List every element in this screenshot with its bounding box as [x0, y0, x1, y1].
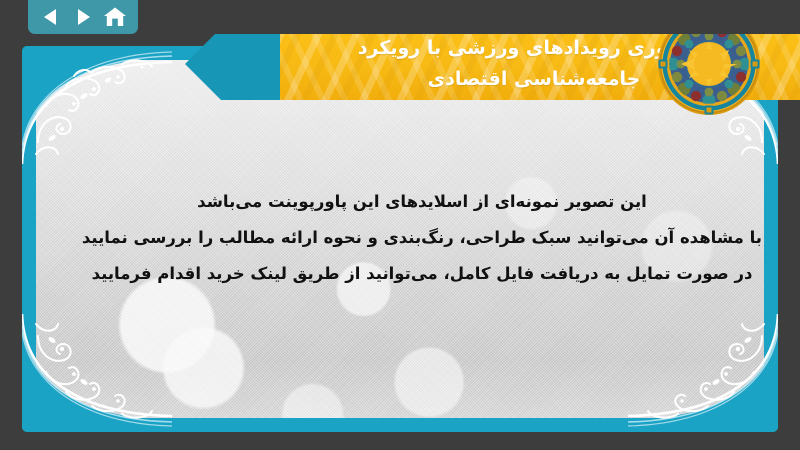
home-button[interactable]	[102, 5, 128, 29]
next-slide-button[interactable]	[70, 5, 96, 29]
body-line-1: این تصویر نمونه‌ای از اسلایدهای این پاور…	[82, 184, 762, 220]
navigation-controls-pill	[28, 0, 138, 34]
navigation-bar	[0, 0, 800, 34]
body-line-2: با مشاهده آن می‌توانید سبک طراحی، رنگ‌بن…	[82, 220, 762, 256]
banner-chevron-shape	[185, 28, 285, 100]
presentation-viewer: این تصویر نمونه‌ای از اسلایدهای این پاور…	[0, 0, 800, 450]
slide-body-text: این تصویر نمونه‌ای از اسلایدهای این پاور…	[82, 184, 762, 292]
previous-slide-button[interactable]	[38, 5, 64, 29]
body-line-3: در صورت تمایل به دریافت فایل کامل، می‌تو…	[82, 256, 762, 292]
